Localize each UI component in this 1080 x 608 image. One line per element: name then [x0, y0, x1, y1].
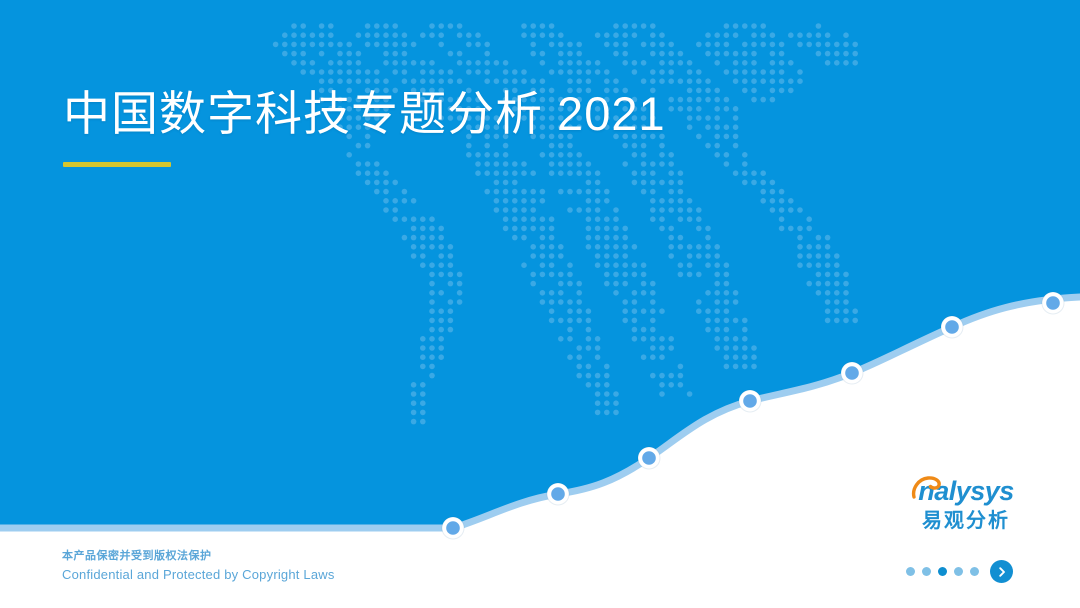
page-dot[interactable]: [954, 567, 963, 576]
copyright-chinese: 本产品保密并受到版权法保护: [62, 548, 335, 565]
copyright-notice: 本产品保密并受到版权法保护 Confidential and Protected…: [62, 548, 335, 584]
page-dot[interactable]: [906, 567, 915, 576]
pagination: [906, 560, 1013, 583]
copyright-english: Confidential and Protected by Copyright …: [62, 565, 335, 584]
page-title: 中国数字科技专题分析 2021: [63, 86, 666, 142]
title-block: 中国数字科技专题分析 2021: [63, 86, 666, 167]
title-slide: 中国数字科技专题分析 2021 本产品保密并受到版权法保护 Confidenti…: [0, 0, 1080, 608]
title-accent-rule: [63, 162, 171, 167]
brand-wordmark: nalysys: [903, 476, 1029, 508]
page-dot-active[interactable]: [938, 567, 947, 576]
page-dot[interactable]: [970, 567, 979, 576]
analysys-logo: nalysys 易观分析: [903, 476, 1029, 533]
page-dot[interactable]: [922, 567, 931, 576]
analysys-a-swirl-icon: [911, 475, 941, 501]
next-slide-button[interactable]: [990, 560, 1013, 583]
chevron-right-icon: [996, 566, 1008, 578]
brand-name-cn: 易观分析: [903, 509, 1029, 533]
